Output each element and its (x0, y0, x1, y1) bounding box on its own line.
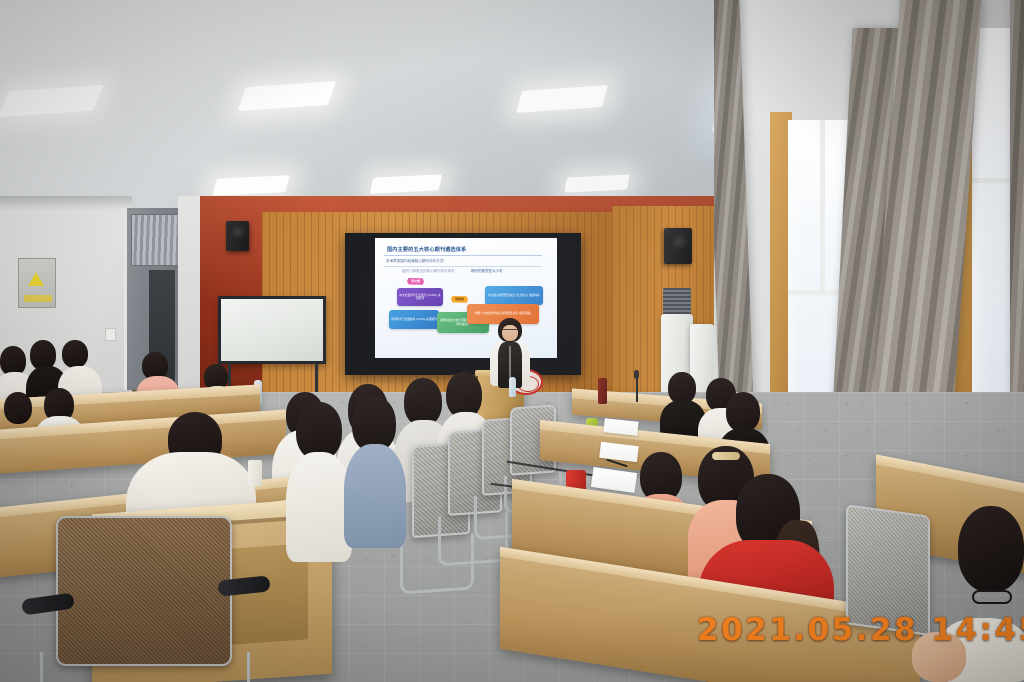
audience-head (4, 392, 32, 424)
slide-line-accent: 期刊的规范性大小写 (471, 269, 503, 273)
slide-burst-label: 评价类 (407, 278, 424, 285)
student-torso (286, 452, 352, 562)
audience-head (958, 506, 1024, 592)
slide-line-muted: 国内几种常见的核心期刊评价体系 (402, 269, 455, 273)
microphone (634, 370, 639, 379)
photo-canvas: 国内主要的五大核心期刊遴选体系 学术界的国内权威核心期刊评价方式: 国内几种常见… (0, 0, 1024, 682)
slide-title: 国内主要的五大核心期刊遴选体系 (387, 247, 466, 253)
audience-head (62, 340, 88, 368)
whiteboard (218, 296, 326, 364)
slide-subtitle: 学术界的国内权威核心期刊评价方式: (386, 259, 445, 263)
slide-box: 中文核心期刊要目总览 (北大核心) 遴选体系 (485, 286, 543, 305)
audience-head (404, 378, 442, 426)
air-conditioner-grill (663, 288, 691, 316)
slide-burst-label: 学科类 (451, 296, 468, 303)
student-torso (344, 444, 406, 548)
window-mullion (820, 120, 825, 290)
eyeglasses-icon (972, 590, 1012, 604)
wall-speaker-icon (664, 228, 692, 264)
door-glass-louvre (131, 214, 179, 266)
eyeglasses-icon (502, 329, 518, 333)
wall-outlet[interactable] (105, 328, 116, 341)
paper-cup (248, 460, 262, 486)
hair-clip-icon (712, 452, 740, 460)
chair-foreground[interactable] (56, 516, 232, 666)
wall-speaker-icon (226, 221, 249, 251)
audience-head (726, 392, 760, 432)
microphone-stand (636, 376, 638, 402)
slide-divider (384, 255, 542, 256)
chair-base (40, 652, 250, 682)
slide-box: 中国科学引文数据库 (CSCD) 来源期刊 (389, 310, 439, 329)
slide-box: 中文社会科学引文索引 (CSSCI) 来源期刊 (397, 288, 443, 306)
projection-screen: 国内主要的五大核心期刊遴选体系 学术界的国内权威核心期刊评价方式: 国内几种常见… (345, 233, 581, 375)
hand (912, 632, 966, 682)
presenter-face (502, 325, 518, 341)
warning-label (24, 295, 52, 302)
water-bottle (509, 377, 516, 397)
thermos-bottle (598, 378, 607, 404)
slide-divider (384, 266, 542, 267)
chair[interactable] (846, 504, 930, 636)
warning-triangle-icon (28, 272, 44, 286)
electrical-panel (18, 258, 56, 308)
